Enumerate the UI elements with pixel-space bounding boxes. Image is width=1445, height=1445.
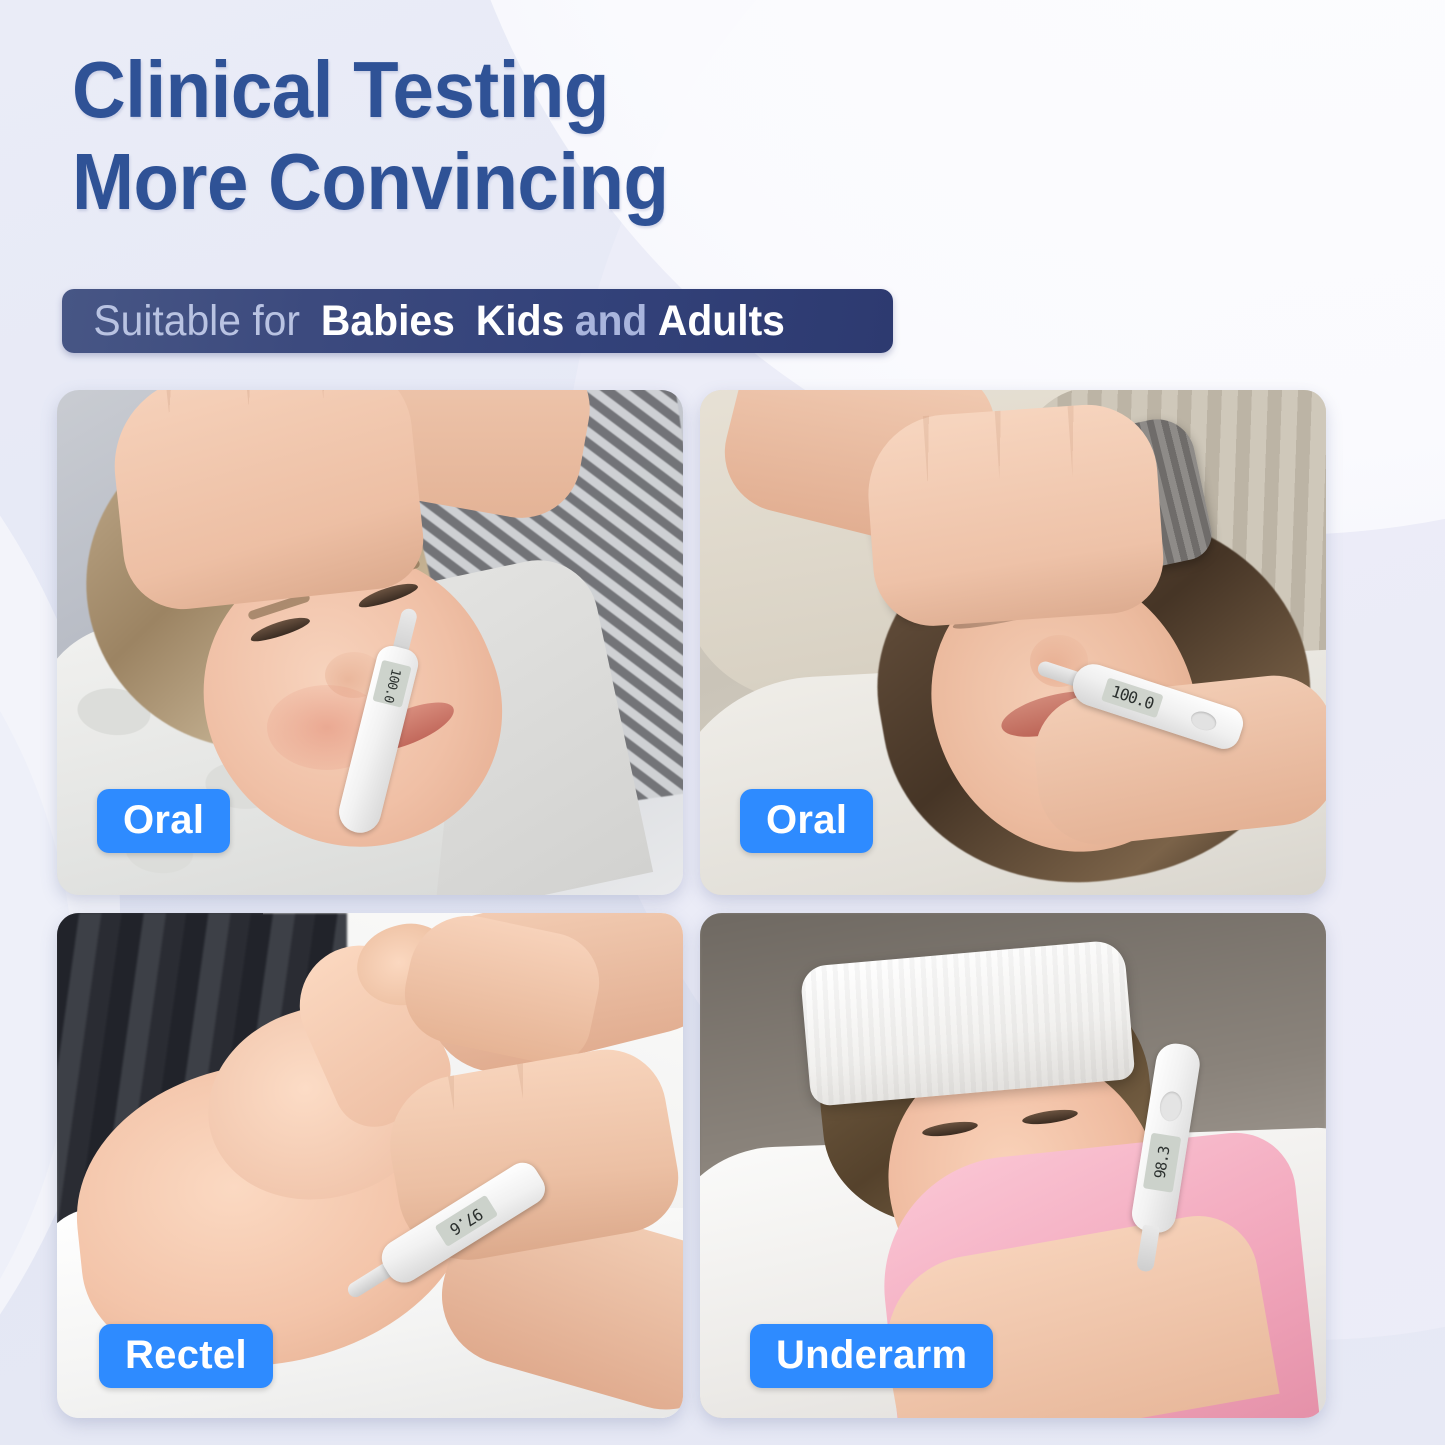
usage-card-underarm-child[interactable]: 98.3 Underarm <box>700 913 1326 1418</box>
thermometer-reading: 100.0 <box>381 667 403 700</box>
subtitle-text: Suitable for Babies Kids and Adults <box>62 297 785 346</box>
subtitle-conjunction: and <box>575 297 648 346</box>
thermometer-reading: 98.3 <box>1151 1147 1173 1179</box>
promo-poster: Clinical Testing More Convincing Suitabl… <box>0 0 1445 1445</box>
subtitle-banner: Suitable for Babies Kids and Adults <box>62 289 893 353</box>
subtitle-word-kids: Kids <box>476 297 565 346</box>
usage-photo-grid: 100.0 Oral <box>57 390 1322 1420</box>
subtitle-word-babies: Babies <box>321 297 455 346</box>
headline-block: Clinical Testing More Convincing <box>72 44 713 228</box>
badge-oral-toddler: Oral <box>97 789 230 853</box>
badge-rectal-baby: Rectel <box>99 1324 273 1388</box>
headline-line-2: More Convincing <box>72 136 669 228</box>
badge-underarm-child: Underarm <box>750 1324 993 1388</box>
subtitle-prefix: Suitable for <box>93 297 300 346</box>
usage-card-oral-toddler[interactable]: 100.0 Oral <box>57 390 683 895</box>
usage-card-rectal-baby[interactable]: 97.6 Rectel <box>57 913 683 1418</box>
usage-card-oral-adult[interactable]: 100.0 Oral <box>700 390 1326 895</box>
headline-line-1: Clinical Testing <box>72 44 669 136</box>
badge-oral-adult: Oral <box>740 789 873 853</box>
subtitle-word-adults: Adults <box>658 297 785 346</box>
